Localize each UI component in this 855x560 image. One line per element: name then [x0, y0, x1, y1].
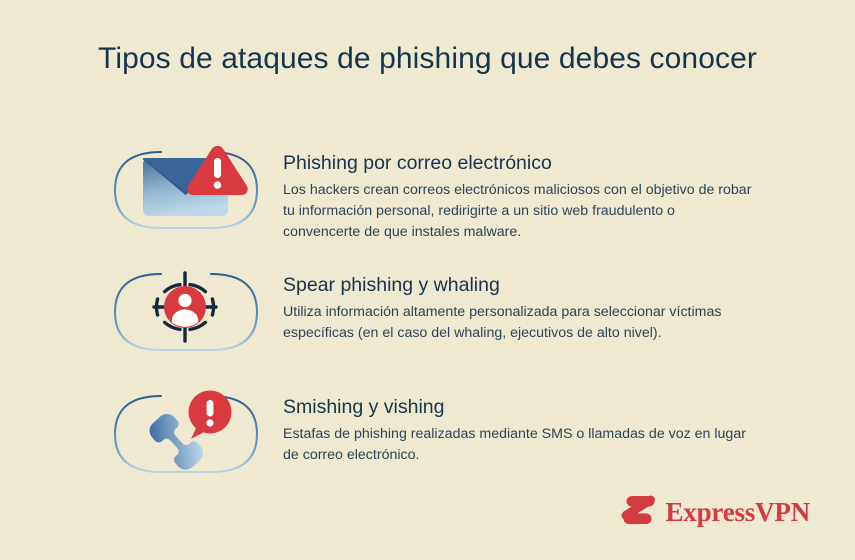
list-item: Phishing por correo electrónico Los hack… — [0, 140, 855, 262]
item-heading: Phishing por correo electrónico — [283, 152, 753, 175]
phishing-types-list: Phishing por correo electrónico Los hack… — [0, 140, 855, 506]
item-body: Estafas de phishing realizadas mediante … — [283, 424, 753, 466]
list-item: Smishing y vishing Estafas de phishing r… — [0, 384, 855, 506]
phone-alert-icon — [105, 384, 265, 484]
item-body: Utiliza información altamente personaliz… — [283, 302, 753, 344]
infographic-canvas: Tipos de ataques de phishing que debes c… — [0, 0, 855, 560]
list-item: Spear phishing y whaling Utiliza informa… — [0, 262, 855, 384]
item-text-block: Phishing por correo electrónico Los hack… — [265, 140, 753, 243]
brand-wordmark: ExpressVPN — [665, 499, 810, 526]
item-text-block: Spear phishing y whaling Utiliza informa… — [265, 262, 753, 344]
item-heading: Spear phishing y whaling — [283, 274, 753, 297]
item-text-block: Smishing y vishing Estafas de phishing r… — [265, 384, 753, 466]
email-warning-icon — [105, 140, 265, 240]
expressvpn-brand: ExpressVPN — [620, 493, 810, 532]
item-body: Los hackers crean correos electrónicos m… — [283, 180, 753, 243]
expressvpn-logo-icon — [620, 493, 656, 532]
target-person-icon — [105, 262, 265, 362]
page-title: Tipos de ataques de phishing que debes c… — [0, 42, 855, 76]
item-heading: Smishing y vishing — [283, 396, 753, 419]
